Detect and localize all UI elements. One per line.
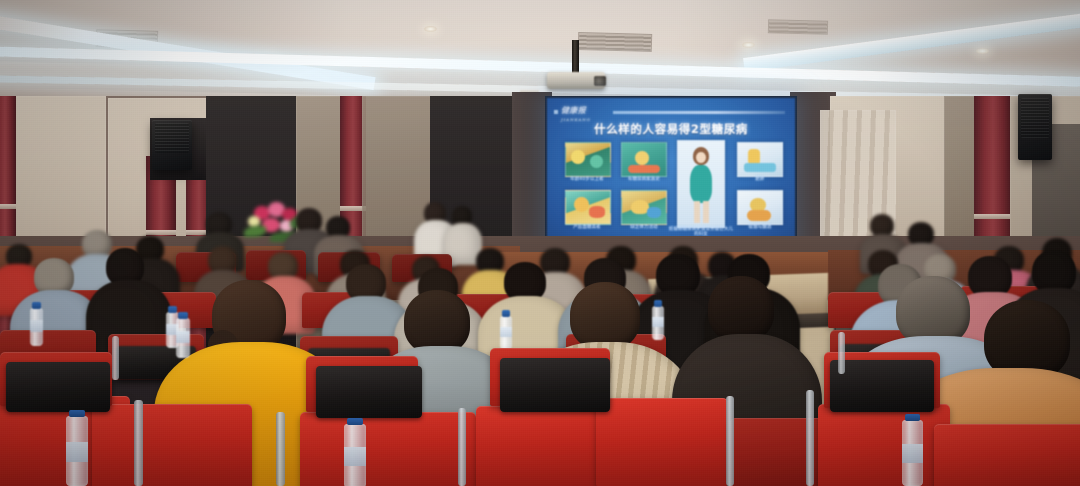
water-bottle [902, 414, 923, 486]
ceiling-downlight [742, 42, 755, 48]
speaker-grill [155, 123, 189, 153]
slide-tile [565, 190, 611, 225]
slide-tile [621, 142, 667, 177]
projection-screen: 健康报 JIANKANG 什么样的人容易得2型糖尿病 年龄40岁以上者 产后血糖… [545, 96, 797, 256]
slide-tile [737, 190, 783, 225]
seat-frame-rail [726, 396, 734, 486]
speaker-grill [1021, 98, 1050, 138]
speaker-left [152, 120, 192, 170]
slide-tile [565, 142, 611, 177]
seat-writing-tablet [6, 362, 110, 412]
slide-tile [621, 190, 667, 225]
seat-writing-tablet [316, 366, 422, 418]
seat-frame-rail [134, 400, 143, 486]
slide-tile [677, 140, 725, 228]
slide-tile-caption: 肥胖 [737, 177, 783, 182]
slide-logo-text: 健康报 [561, 106, 586, 115]
seat-frame-rail [806, 390, 814, 486]
seat-writing-tablet [500, 358, 610, 412]
slide-bullet-icon [554, 110, 558, 114]
auditorium-seat [934, 424, 1080, 486]
lecture-hall-photo: 健康报 JIANKANG 什么样的人容易得2型糖尿病 年龄40岁以上者 产后血糖… [0, 0, 1080, 486]
slide-tile-caption: 吸烟与酗酒 [735, 225, 785, 230]
slide-tile-caption: 有糖尿病家族史 [613, 177, 675, 182]
slide-tile [737, 142, 783, 177]
projector-lens [594, 76, 606, 86]
air-vent [578, 32, 652, 52]
speaker-right [1018, 94, 1052, 160]
water-bottle [66, 410, 88, 486]
slide-logo: 健康报 JIANKANG [561, 106, 607, 121]
air-vent [768, 19, 828, 35]
foliage [244, 226, 266, 237]
water-bottle [344, 418, 366, 486]
auditorium-seat [818, 404, 950, 486]
slide-divider [613, 111, 785, 114]
water-bottle [176, 312, 190, 358]
seat-frame-rail [112, 336, 119, 380]
slide-title: 什么样的人容易得2型糖尿病 [547, 121, 795, 137]
water-bottle [500, 310, 512, 350]
auditorium-seat [596, 398, 728, 486]
slide-tile-caption: 年龄40岁以上者 [553, 177, 621, 182]
auditorium-seat [300, 412, 476, 486]
seat-writing-tablet [830, 360, 934, 412]
slide-tile-caption: 产后血糖高者 [553, 225, 621, 230]
ceiling-downlight [424, 26, 437, 32]
slide-content: 健康报 JIANKANG 什么样的人容易得2型糖尿病 年龄40岁以上者 产后血糖… [547, 98, 795, 254]
seat-frame-rail [276, 412, 285, 486]
seat-frame-rail [458, 408, 466, 486]
water-bottle [652, 300, 664, 340]
auditorium-seat [92, 404, 252, 486]
ceiling-downlight [976, 48, 989, 54]
seat-frame-rail [838, 332, 845, 374]
water-bottle [30, 302, 43, 346]
projector-pole [572, 40, 579, 76]
slide-tile-caption: 缺乏体力活动 [613, 225, 675, 230]
